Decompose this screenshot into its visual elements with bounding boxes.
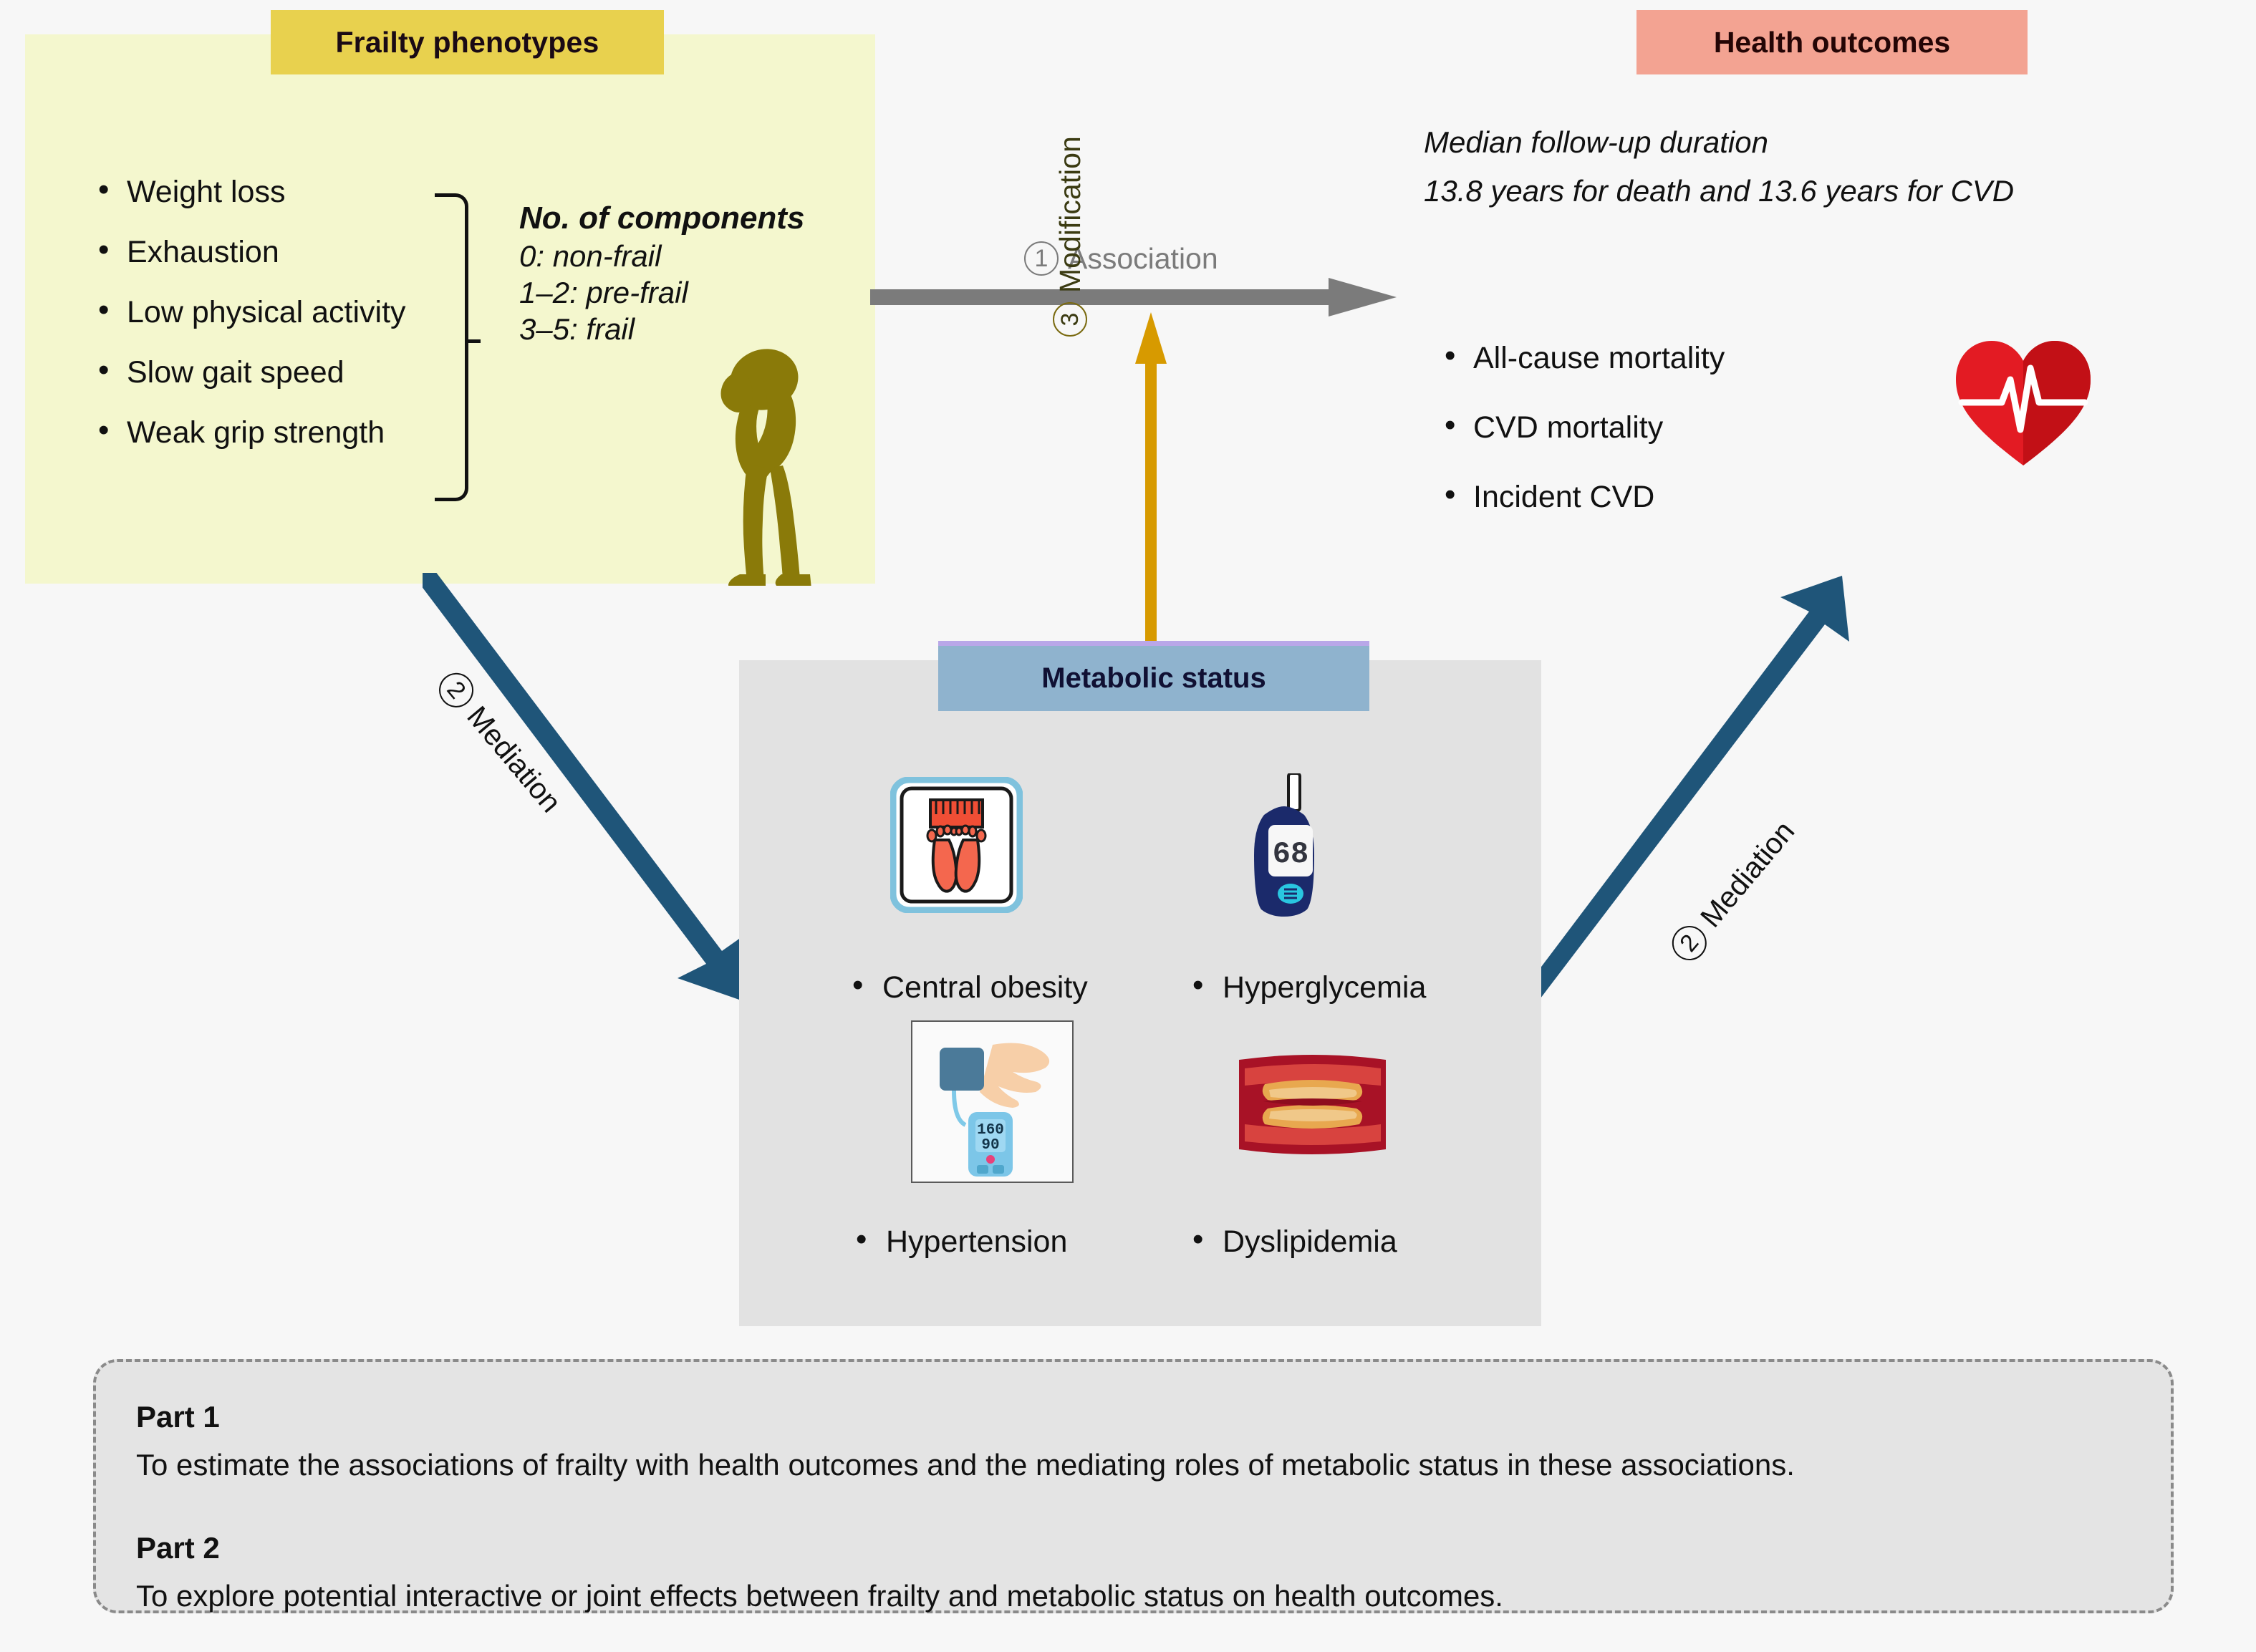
metabolic-item-label: Hypertension [856,1224,1067,1260]
health-outcomes-header: Health outcomes [1636,10,2028,74]
list-item: All-cause mortality [1443,341,1944,376]
modification-text: Modification [1054,136,1087,293]
modification-label: 3 Modification [1053,136,1087,337]
list-item: Incident CVD [1443,480,1944,515]
components-line: 1–2: pre-frail [519,274,804,311]
systolic-reading: 160 [977,1122,1004,1139]
part-1-title: Part 1 [136,1400,220,1434]
list-item: Slow gait speed [97,355,541,390]
frailty-phenotypes-panel: Weight loss Exhaustion Low physical acti… [25,34,875,584]
list-item: Exhaustion [97,235,541,270]
grouping-brace-icon [435,193,468,501]
followup-duration-block: Median follow-up duration 13.8 years for… [1424,118,2212,216]
artery-plaque-icon [1232,1053,1393,1156]
association-arrow-icon [870,276,1397,319]
metabolic-item-label: Dyslipidemia [1192,1224,1397,1260]
frailty-phenotype-list: Weight loss Exhaustion Low physical acti… [68,175,541,475]
followup-value: 13.8 years for death and 13.6 years for … [1424,167,2212,216]
modification-number: 3 [1053,302,1087,337]
metabolic-status-header: Metabolic status [938,641,1369,711]
frailty-phenotypes-header: Frailty phenotypes [271,10,664,74]
followup-label: Median follow-up duration [1424,118,2212,167]
list-item: Weight loss [97,175,541,210]
glucose-reading: 68 [1273,837,1308,871]
metabolic-item-label: Hyperglycemia [1192,970,1426,1005]
blood-pressure-monitor-icon: 160 90 [911,1020,1074,1183]
list-item: CVD mortality [1443,410,1944,445]
list-item: Weak grip strength [97,415,541,450]
list-item: Low physical activity [97,295,541,330]
study-parts-box [93,1359,2174,1613]
heart-with-pulse-icon [1952,337,2095,473]
components-legend: No. of components 0: non-frail 1–2: pre-… [519,199,804,347]
stooped-elderly-person-icon [655,342,820,586]
glucose-meter-icon: 68 [1250,773,1343,917]
association-text: Association [1068,242,1218,276]
part-2-title: Part 2 [136,1531,220,1565]
mediation-left-arrow-icon [423,573,759,1003]
weight-scale-icon [890,777,1023,913]
part-2-text: To explore potential interactive or join… [136,1579,1503,1613]
modification-arrow-icon [1135,301,1167,659]
components-line: 0: non-frail [519,238,804,274]
metabolic-item-label: Central obesity [852,970,1088,1005]
diastolic-reading: 90 [981,1137,999,1154]
components-title: No. of components [519,199,804,238]
health-outcome-list: All-cause mortality CVD mortality Incide… [1414,341,1944,549]
part-1-text: To estimate the associations of frailty … [136,1448,1795,1482]
figure-canvas: Weight loss Exhaustion Low physical acti… [0,0,2256,1652]
